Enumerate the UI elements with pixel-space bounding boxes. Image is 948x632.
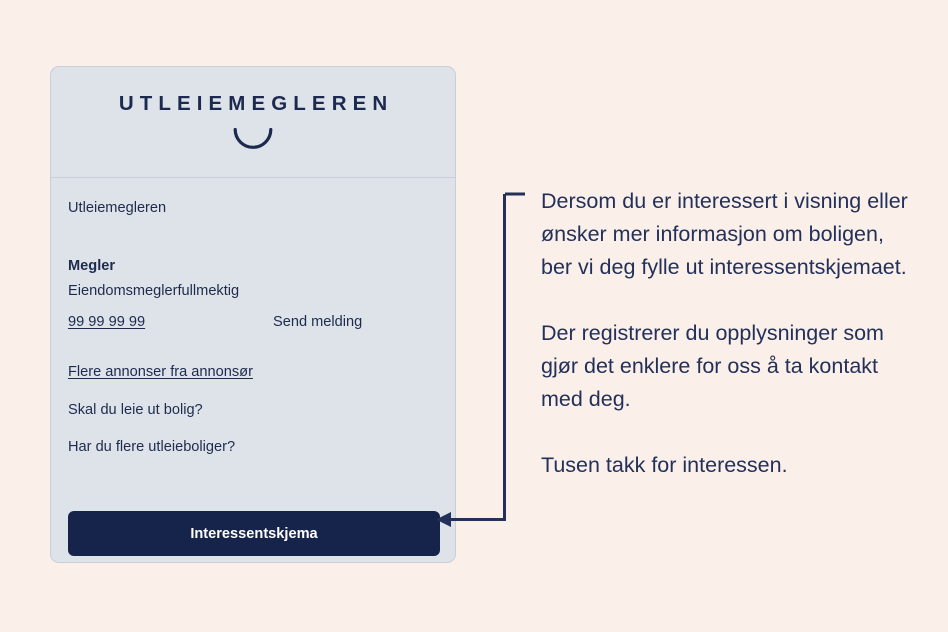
callout-paragraph-2: Der registrerer du opplysninger som gjør… <box>541 317 911 416</box>
callout-paragraph-1: Dersom du er interessert i visning eller… <box>541 185 911 284</box>
card-body: Utleiemegleren Megler Eiendomsmeglerfull… <box>51 178 455 563</box>
agent-title: Eiendomsmeglerfullmektig <box>68 283 438 301</box>
agent-contact-row: 99 99 99 99 Send melding <box>68 314 438 330</box>
more-rental-properties-link[interactable]: Har du flere utleieboliger? <box>68 439 438 455</box>
smile-arc-icon <box>232 128 274 149</box>
callout-paragraph-3: Tusen takk for interessen. <box>541 449 911 482</box>
callout-text-block: Dersom du er interessert i visning eller… <box>541 185 911 482</box>
interest-form-button[interactable]: Interessentskjema <box>68 511 440 556</box>
agent-block: Megler Eiendomsmeglerfullmektig 99 99 99… <box>68 258 438 330</box>
company-name: Utleiemegleren <box>68 198 438 218</box>
agent-phone-link[interactable]: 99 99 99 99 <box>68 314 273 330</box>
brand-wordmark: UTLEIEMEGLEREN <box>113 94 394 115</box>
rent-out-property-link[interactable]: Skal du leie ut bolig? <box>68 402 438 418</box>
send-message-link[interactable]: Send melding <box>273 314 362 330</box>
card-header: UTLEIEMEGLEREN <box>51 67 455 178</box>
agent-contact-card: UTLEIEMEGLEREN Utleiemegleren Megler Eie… <box>50 66 456 563</box>
agent-role-heading: Megler <box>68 258 438 276</box>
more-ads-from-advertiser-link[interactable]: Flere annonser fra annonsør <box>68 364 253 380</box>
